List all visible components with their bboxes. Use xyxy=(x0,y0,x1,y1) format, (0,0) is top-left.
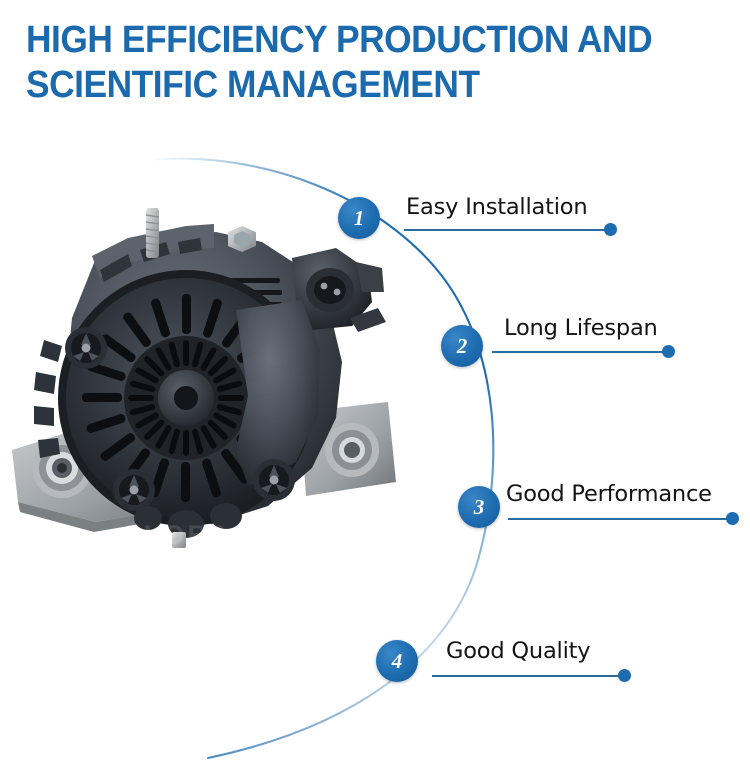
feature-label-3: Good Performance xyxy=(506,481,712,507)
page-title-line-1: HIGH EFFICIENCY PRODUCTION AND xyxy=(26,18,677,63)
feature-marker-4[interactable]: 4 xyxy=(376,640,418,682)
page-title-line-2: SCIENTIFIC MANAGEMENT xyxy=(26,63,677,108)
feature-rule-1 xyxy=(404,229,606,231)
feature-label-1: Easy Installation xyxy=(406,194,587,220)
feature-end-dot-4 xyxy=(618,669,631,682)
feature-marker-1[interactable]: 1 xyxy=(338,197,380,239)
feature-rule-4 xyxy=(432,675,622,677)
feature-rule-3 xyxy=(508,518,730,520)
housing-fin-tabs xyxy=(34,340,62,458)
threaded-stud xyxy=(146,208,159,258)
feature-end-dot-3 xyxy=(726,512,739,525)
feature-label-4: Good Quality xyxy=(446,638,590,664)
feature-marker-3[interactable]: 3 xyxy=(458,486,500,528)
bottom-bolt xyxy=(172,532,186,548)
feature-label-2: Long Lifespan xyxy=(504,315,658,341)
infographic-banner: HIGH EFFICIENCY PRODUCTION AND SCIENTIFI… xyxy=(0,0,750,780)
feature-end-dot-1 xyxy=(604,223,617,236)
feature-marker-2[interactable]: 2 xyxy=(441,325,483,367)
feature-end-dot-2 xyxy=(662,345,675,358)
feature-rule-2 xyxy=(492,351,664,353)
page-title: HIGH EFFICIENCY PRODUCTION AND SCIENTIFI… xyxy=(26,18,726,108)
